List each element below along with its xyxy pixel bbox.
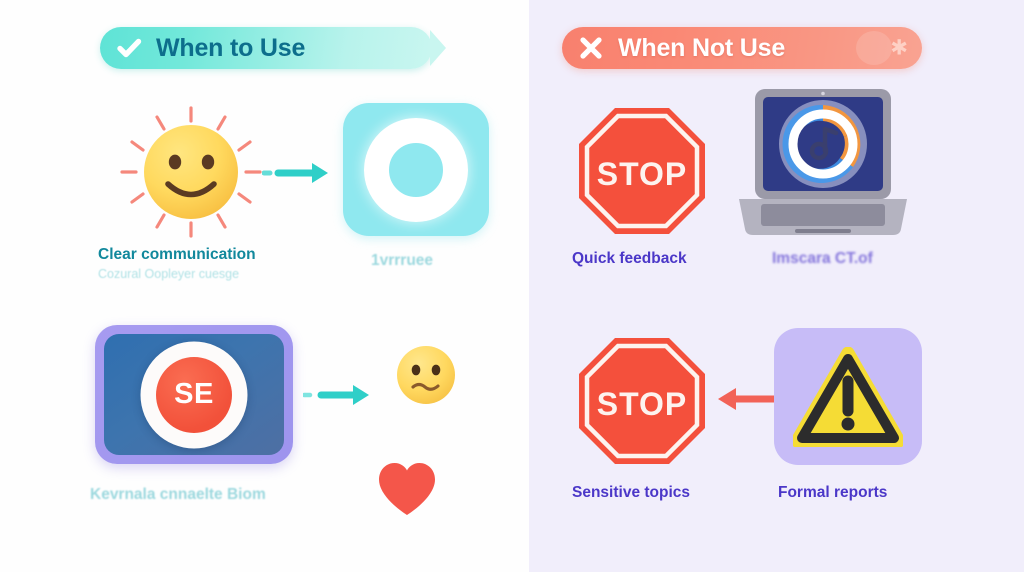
cyan-ring-card: [343, 103, 489, 236]
panel-when-to-use: When to Use: [0, 0, 529, 572]
se-label: SE: [174, 380, 214, 409]
label-group-sensitive-topics: Sensitive topics: [572, 484, 690, 502]
label-group-quick-feedback: Quick feedback: [572, 250, 687, 268]
se-card-screen: SE: [104, 334, 284, 455]
label-group-clear-communication: Clear communication Cozural Oopleyer cue…: [98, 246, 256, 281]
warning-triangle-card: [774, 328, 922, 465]
laptop-chart-icon: [733, 85, 913, 243]
arrow-right-icon-1: [262, 158, 332, 188]
cell-label: Sensitive topics: [572, 484, 690, 502]
cell-label: Kevrnala cnnaelte Biom: [90, 486, 266, 504]
cross-icon: [576, 33, 606, 63]
panel-when-not-use: When Not Use ✱ STOP: [529, 0, 1024, 572]
cell-label: Quick feedback: [572, 250, 687, 268]
stop-sign-icon-2: STOP: [577, 336, 707, 466]
check-icon: [114, 33, 144, 63]
banner-when-to-use: When to Use: [100, 27, 432, 69]
cell-label: Formal reports: [778, 484, 887, 502]
label-group-ring: 1vrrruee: [371, 252, 433, 270]
label-group-se: Kevrnala cnnaelte Biom: [90, 486, 266, 504]
svg-text:STOP: STOP: [597, 386, 688, 422]
arrow-right-icon-2: [303, 380, 373, 410]
warning-triangle-icon: [793, 347, 903, 447]
neutral-face-icon: [392, 341, 460, 409]
se-red-disc: SE: [156, 357, 232, 433]
cell-sublabel: Cozural Oopleyer cuesge: [98, 267, 256, 281]
label-group-formal-reports: Formal reports: [778, 484, 887, 502]
banner-blob-decoration: [856, 31, 892, 65]
label-group-laptop: Imscara CT.of: [772, 250, 873, 268]
se-badge-card: SE: [95, 325, 293, 464]
svg-text:STOP: STOP: [597, 156, 688, 192]
sparkle-icon: ✱: [890, 38, 908, 59]
banner-title-left: When to Use: [156, 34, 305, 63]
heart-icon: [376, 461, 438, 517]
cell-label: Imscara CT.of: [772, 250, 873, 268]
cell-label: Clear communication: [98, 246, 256, 264]
sun-smiley-icon: [116, 106, 266, 238]
banner-title-right: When Not Use: [618, 34, 785, 63]
cell-label: 1vrrruee: [371, 252, 433, 270]
banner-when-not-use: When Not Use ✱: [562, 27, 922, 69]
infographic-canvas: When to Use: [0, 0, 1024, 572]
stop-sign-icon-1: STOP: [577, 106, 707, 236]
